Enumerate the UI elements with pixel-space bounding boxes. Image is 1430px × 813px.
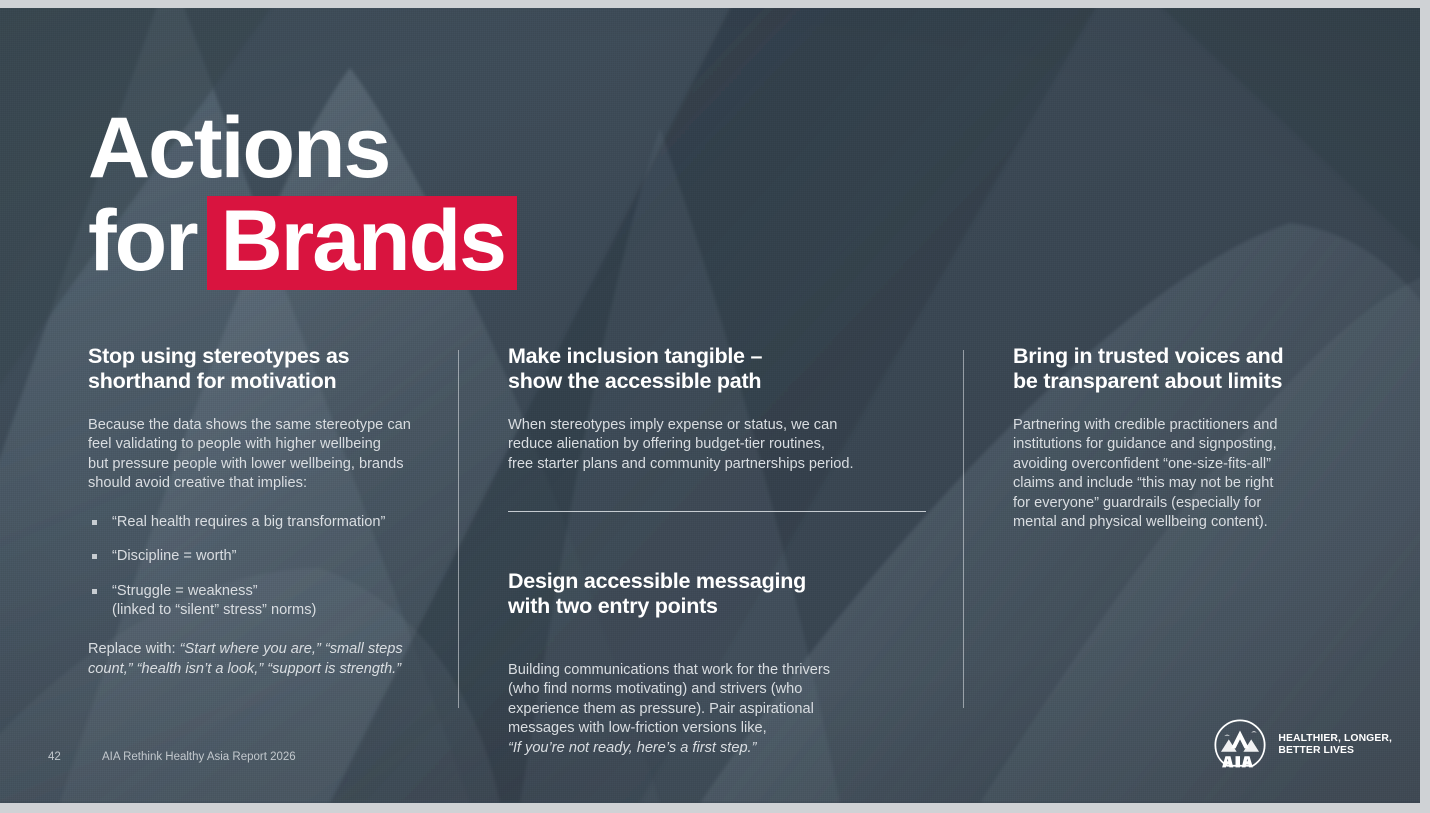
- title-word-brands-highlight: Brands: [207, 196, 517, 290]
- column-make-inclusion-tangible: Make inclusion tangible – show the acces…: [508, 344, 926, 758]
- page-number: 42: [48, 751, 102, 763]
- aia-logo: HEALTHIER, LONGER, BETTER LIVES: [1212, 717, 1392, 773]
- content-columns: Stop using stereotypes as shorthand for …: [0, 344, 1420, 724]
- column-2-body: When stereotypes imply expense or status…: [508, 416, 926, 474]
- slide: Actions forBrands Stop using stereotypes…: [0, 0, 1430, 813]
- column-1-replace-with: Replace with: “Start where you are,” “sm…: [88, 640, 438, 679]
- column-1-bullet-list: “Real health requires a big transformati…: [88, 513, 438, 621]
- column-2-body-2: Building communications that work for th…: [508, 661, 926, 739]
- list-item: “Real health requires a big transformati…: [88, 513, 438, 532]
- footer-report-title: AIA Rethink Healthy Asia Report 2026: [102, 751, 296, 763]
- list-item: “Discipline = worth”: [88, 547, 438, 566]
- aia-logo-icon: [1212, 717, 1268, 773]
- column-bring-in-trusted-voices: Bring in trusted voices and be transpare…: [1013, 344, 1358, 532]
- title-line-for-brands: forBrands: [88, 196, 517, 290]
- column-2-heading: Make inclusion tangible – show the acces…: [508, 344, 926, 394]
- list-item: “Struggle = weakness” (linked to “silent…: [88, 582, 438, 620]
- aia-logo-tagline: HEALTHIER, LONGER, BETTER LIVES: [1278, 733, 1392, 758]
- page-title: Actions forBrands: [88, 106, 517, 290]
- replace-with-label: Replace with:: [88, 641, 180, 657]
- column-3-heading: Bring in trusted voices and be transpare…: [1013, 344, 1358, 394]
- column-3-body: Partnering with credible practitioners a…: [1013, 416, 1358, 532]
- footer: 42 AIA Rethink Healthy Asia Report 2026: [48, 751, 296, 763]
- column-1-body: Because the data shows the same stereoty…: [88, 416, 438, 494]
- column-1-heading: Stop using stereotypes as shorthand for …: [88, 344, 438, 394]
- title-word-for: for: [88, 193, 197, 289]
- column-2-heading-2: Design accessible messaging with two ent…: [508, 569, 926, 619]
- column-2-section-divider: [508, 511, 926, 512]
- slide-canvas: Actions forBrands Stop using stereotypes…: [0, 8, 1420, 803]
- title-line-actions: Actions: [88, 106, 517, 190]
- column-2-body-2-quote: “If you’re not ready, here’s a first ste…: [508, 739, 926, 758]
- column-stop-using-stereotypes: Stop using stereotypes as shorthand for …: [88, 344, 438, 679]
